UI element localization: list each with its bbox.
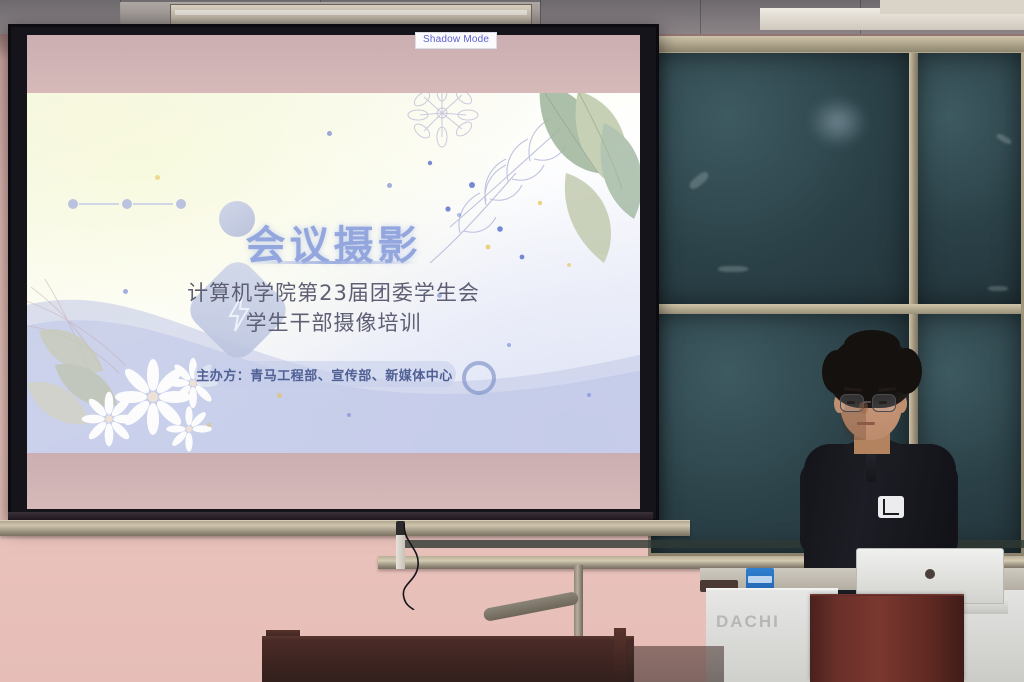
eye-right xyxy=(879,401,887,404)
ceiling-trim-right-upper xyxy=(880,0,1024,14)
hair-top xyxy=(844,330,900,360)
chest-logo-mark xyxy=(883,499,899,515)
slide-title-underline xyxy=(249,261,419,264)
presentation-slide: 会议摄影 计算机学院第23届团委学生会 学生干部摄像培训 主办方：青马工程部、宣… xyxy=(27,93,640,453)
blackboard-glare xyxy=(808,96,868,148)
microphone-cable xyxy=(398,522,442,610)
dots-line-decoration xyxy=(67,198,197,210)
slide-subtitle-line-2: 学生干部摄像培训 xyxy=(27,307,640,337)
blackboard-top-rail xyxy=(648,36,1024,52)
podium xyxy=(810,596,964,682)
blackboard-panel xyxy=(916,53,1021,307)
mouth xyxy=(857,422,875,425)
slide-ring-decoration xyxy=(462,361,496,395)
cabinet-brand-text: DACHI xyxy=(716,612,780,632)
slide-subtitle-line-1: 计算机学院第23届团委学生会 xyxy=(27,277,640,307)
projection-screen-surface: 会议摄影 计算机学院第23届团委学生会 学生干部摄像培训 主办方：青马工程部、宣… xyxy=(27,35,640,509)
screen-letterbox-bottom xyxy=(27,453,640,509)
chest-logo-badge xyxy=(878,496,904,518)
laptop-logo-dot xyxy=(925,569,935,579)
slide-host-pill: 主办方：青马工程部、宣传部、新媒体中心 xyxy=(194,361,456,387)
screen-letterbox-top xyxy=(27,35,640,93)
desk-right-section xyxy=(628,646,724,682)
nose xyxy=(859,402,868,414)
desk-front-panel xyxy=(262,640,634,682)
slide-host-label: 主办方：青马工程部、宣传部、新媒体中心 xyxy=(196,365,453,384)
blackboard-divider-horizontal xyxy=(651,304,1021,314)
classroom-photo-scene: 会议摄影 计算机学院第23届团委学生会 学生干部摄像培训 主办方：青马工程部、宣… xyxy=(0,0,1024,682)
blue-box-label xyxy=(748,576,772,583)
shadow-mode-badge: Shadow Mode xyxy=(415,32,497,49)
blackboard-panel xyxy=(651,53,909,307)
chalk-rail-left xyxy=(0,520,690,536)
projection-screen: 会议摄影 计算机学院第23届团委学生会 学生干部摄像培训 主办方：青马工程部、宣… xyxy=(8,24,659,522)
eye-left xyxy=(847,401,855,404)
desk-right-edge xyxy=(614,628,626,682)
